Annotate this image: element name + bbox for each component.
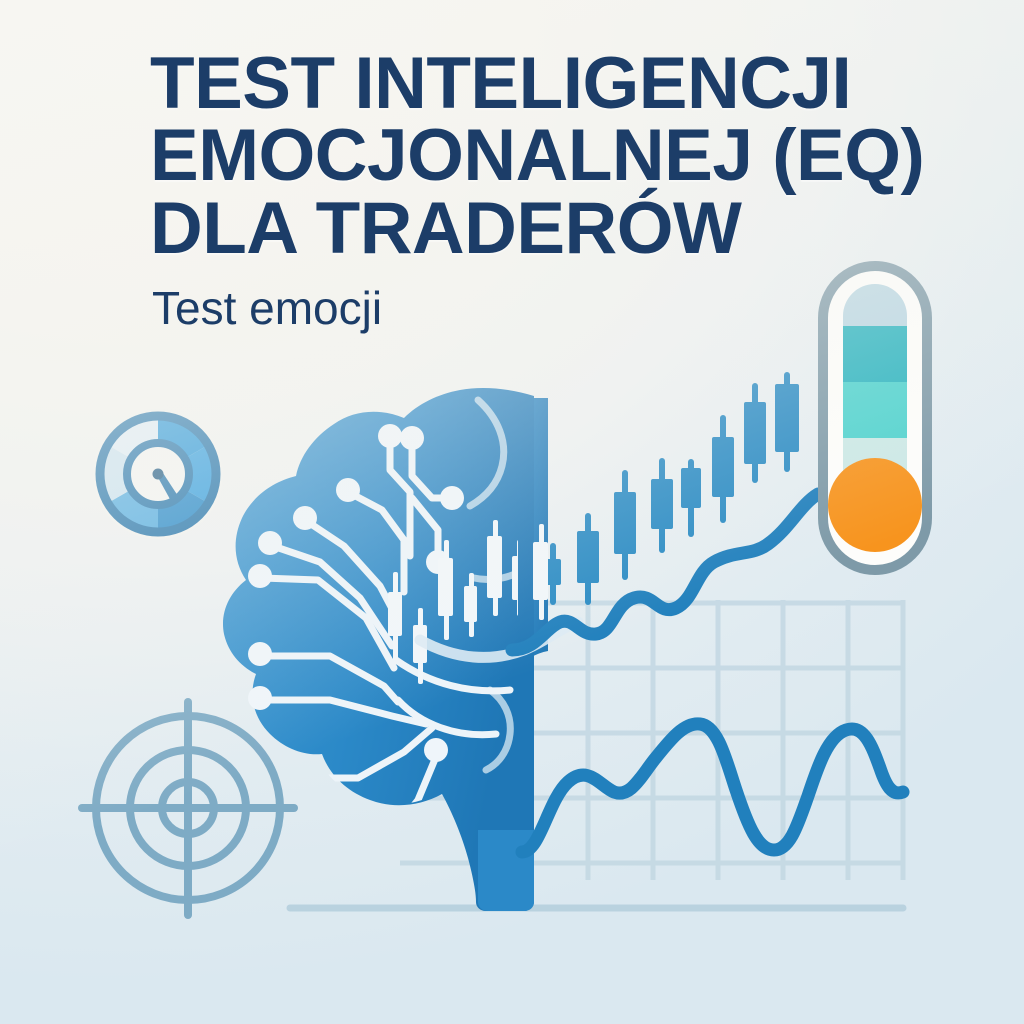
headline-block: TEST INTELIGENCJI EMOCJONALNEJ (EQ) DLA … bbox=[150, 48, 970, 331]
page-title: TEST INTELIGENCJI EMOCJONALNEJ (EQ) DLA … bbox=[150, 48, 970, 265]
title-line-2: EMOCJONALNEJ (EQ) bbox=[150, 120, 970, 192]
title-line-3: DLA TRADERÓW bbox=[150, 193, 970, 265]
title-line-1: TEST INTELIGENCJI bbox=[150, 48, 970, 120]
thermometer-bulb bbox=[828, 458, 922, 552]
page-subtitle: Test emocji bbox=[152, 285, 970, 331]
poster-canvas: TEST INTELIGENCJI EMOCJONALNEJ (EQ) DLA … bbox=[0, 0, 1024, 1024]
